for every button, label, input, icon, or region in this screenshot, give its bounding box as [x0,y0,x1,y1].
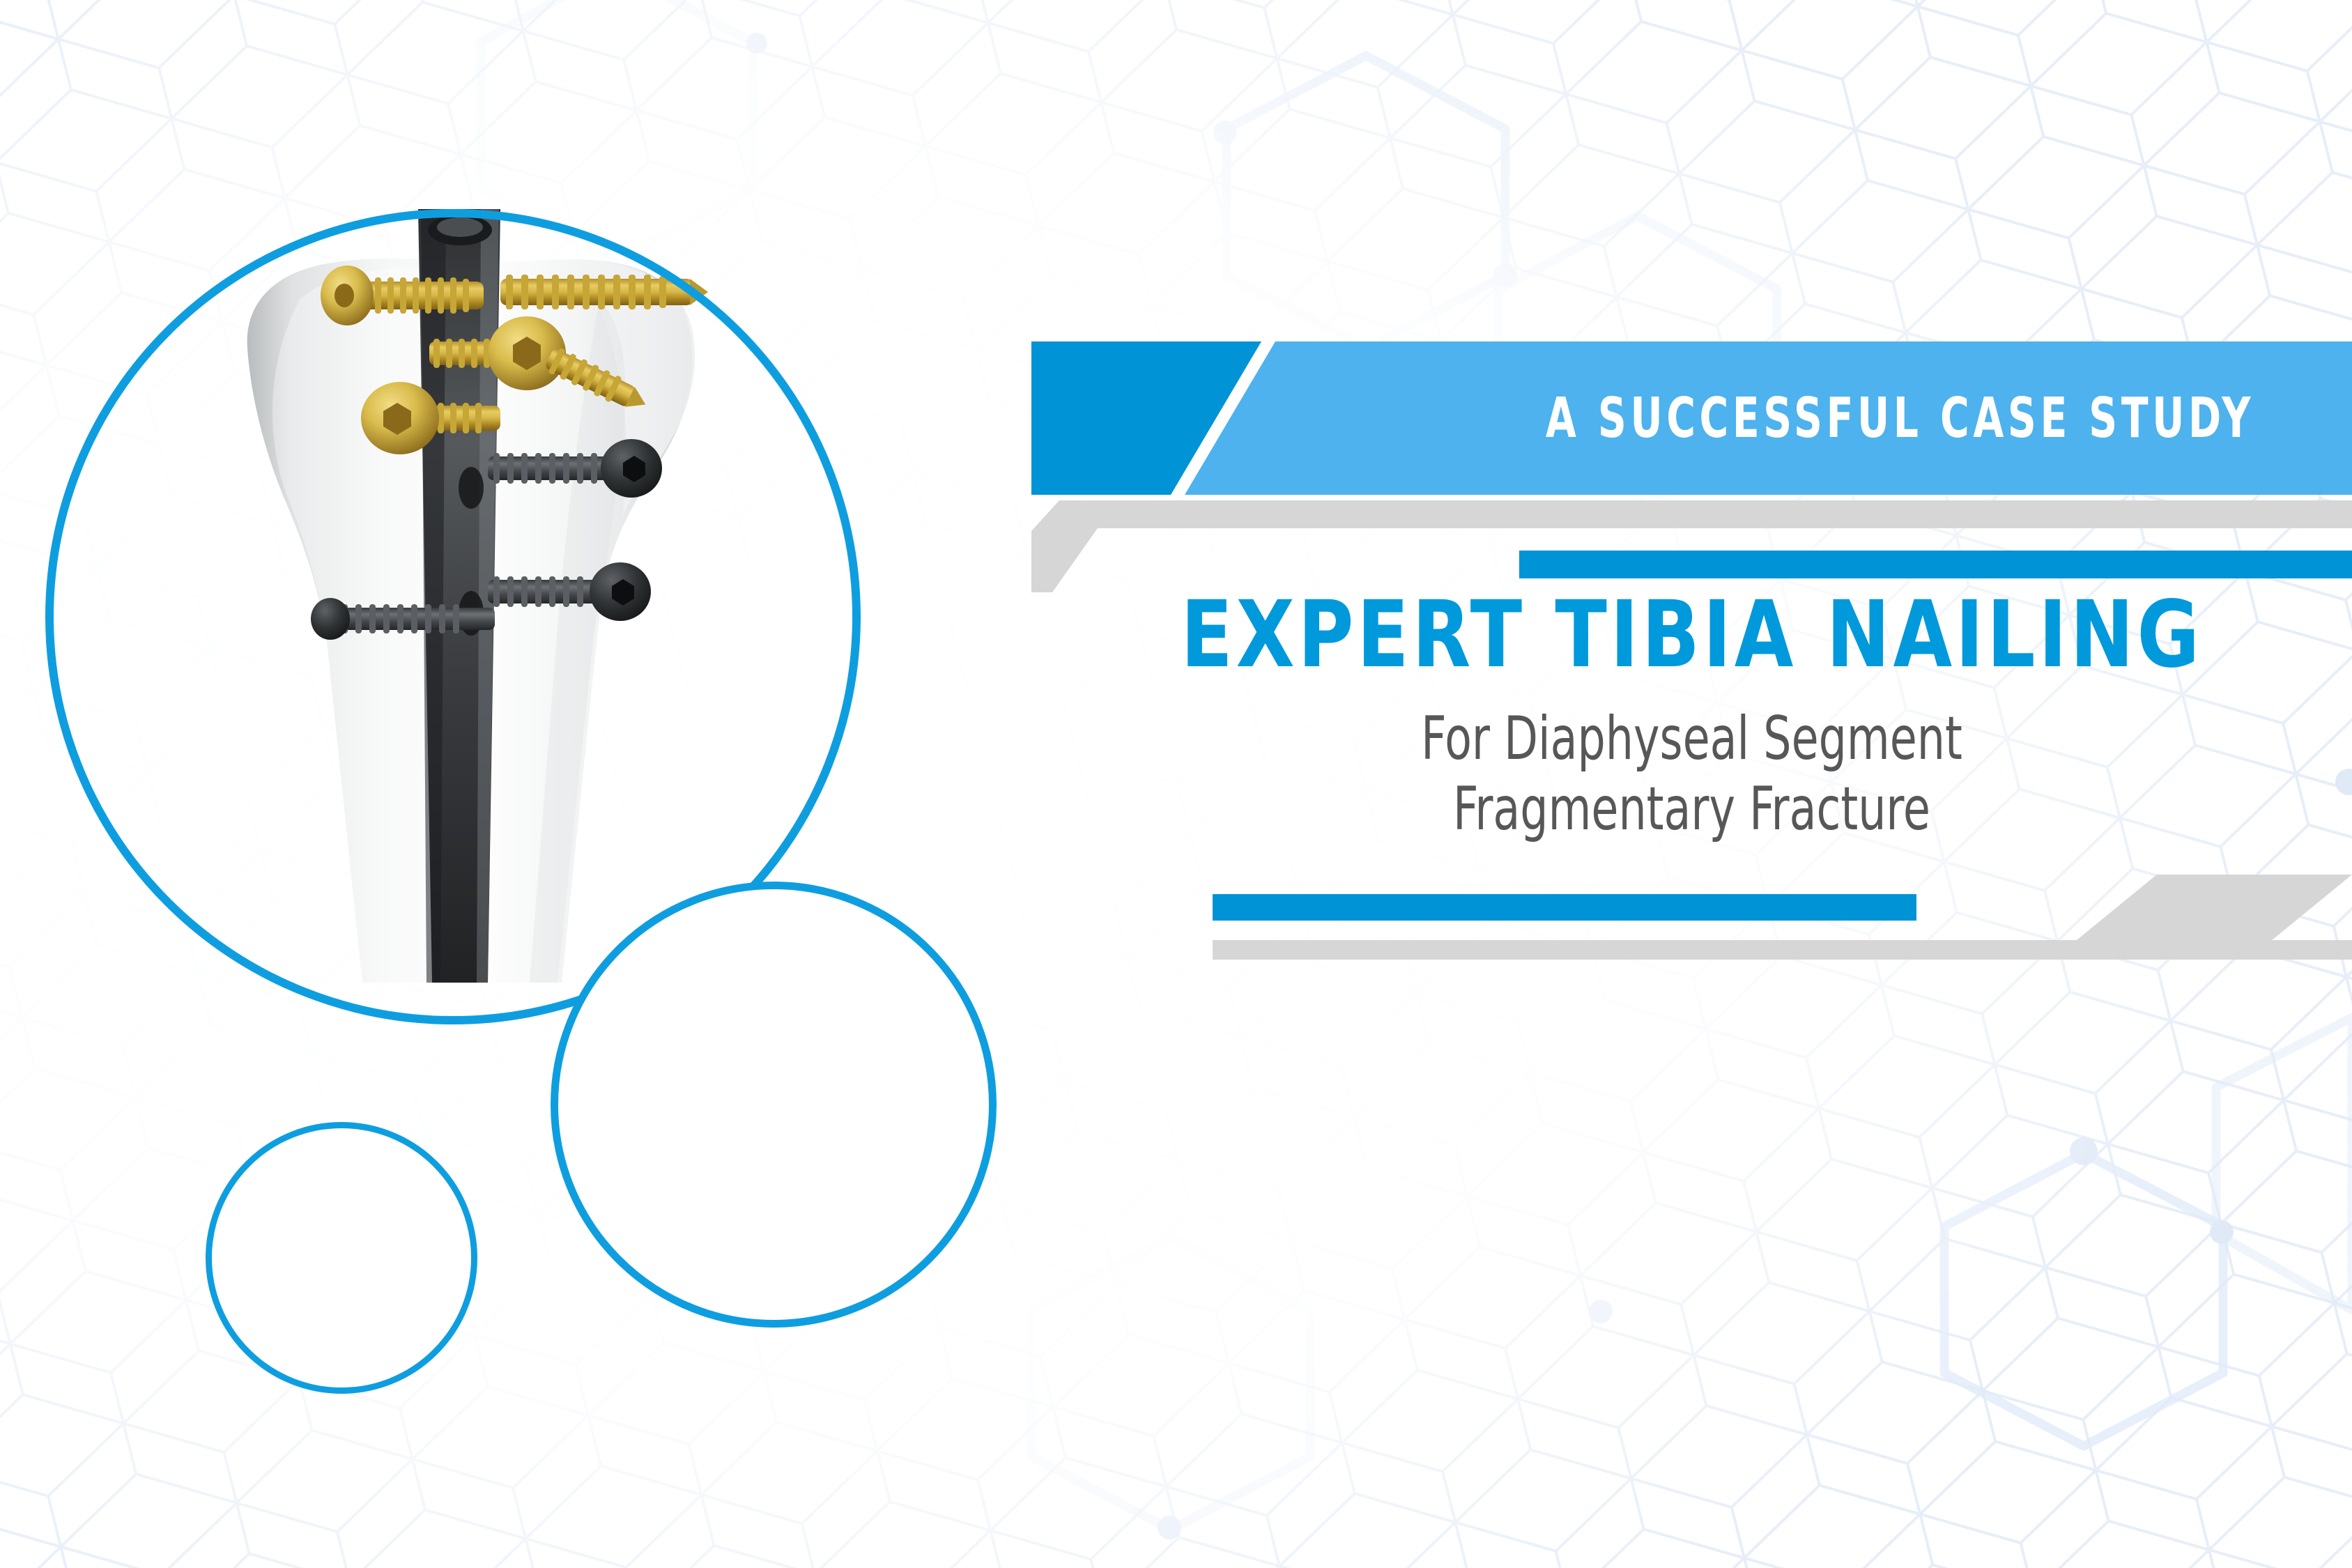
poster-canvas: A SUCCESSFUL CASE STUDY EXPERT TIBIA NAI… [0,0,2352,1568]
text-content-area: A SUCCESSFUL CASE STUDY EXPERT TIBIA NAI… [1031,0,2352,1568]
subtitle-line-2: Fragmentary Fracture [1151,774,2234,845]
circle-frame-nail-screws [551,882,997,1328]
page-subtitle: For Diaphyseal Segment Fragmentary Fract… [1151,704,2234,845]
decoration-bottom [1213,868,2352,986]
decoration-top [1031,488,2352,592]
page-title: EXPERT TIBIA NAILING [1084,589,2299,681]
eyebrow-ribbon [1031,341,2352,495]
implant-illustrations [0,0,1087,1568]
circle-frame-full-tibia [206,1122,477,1394]
subtitle-line-1: For Diaphyseal Segment [1151,704,2234,774]
